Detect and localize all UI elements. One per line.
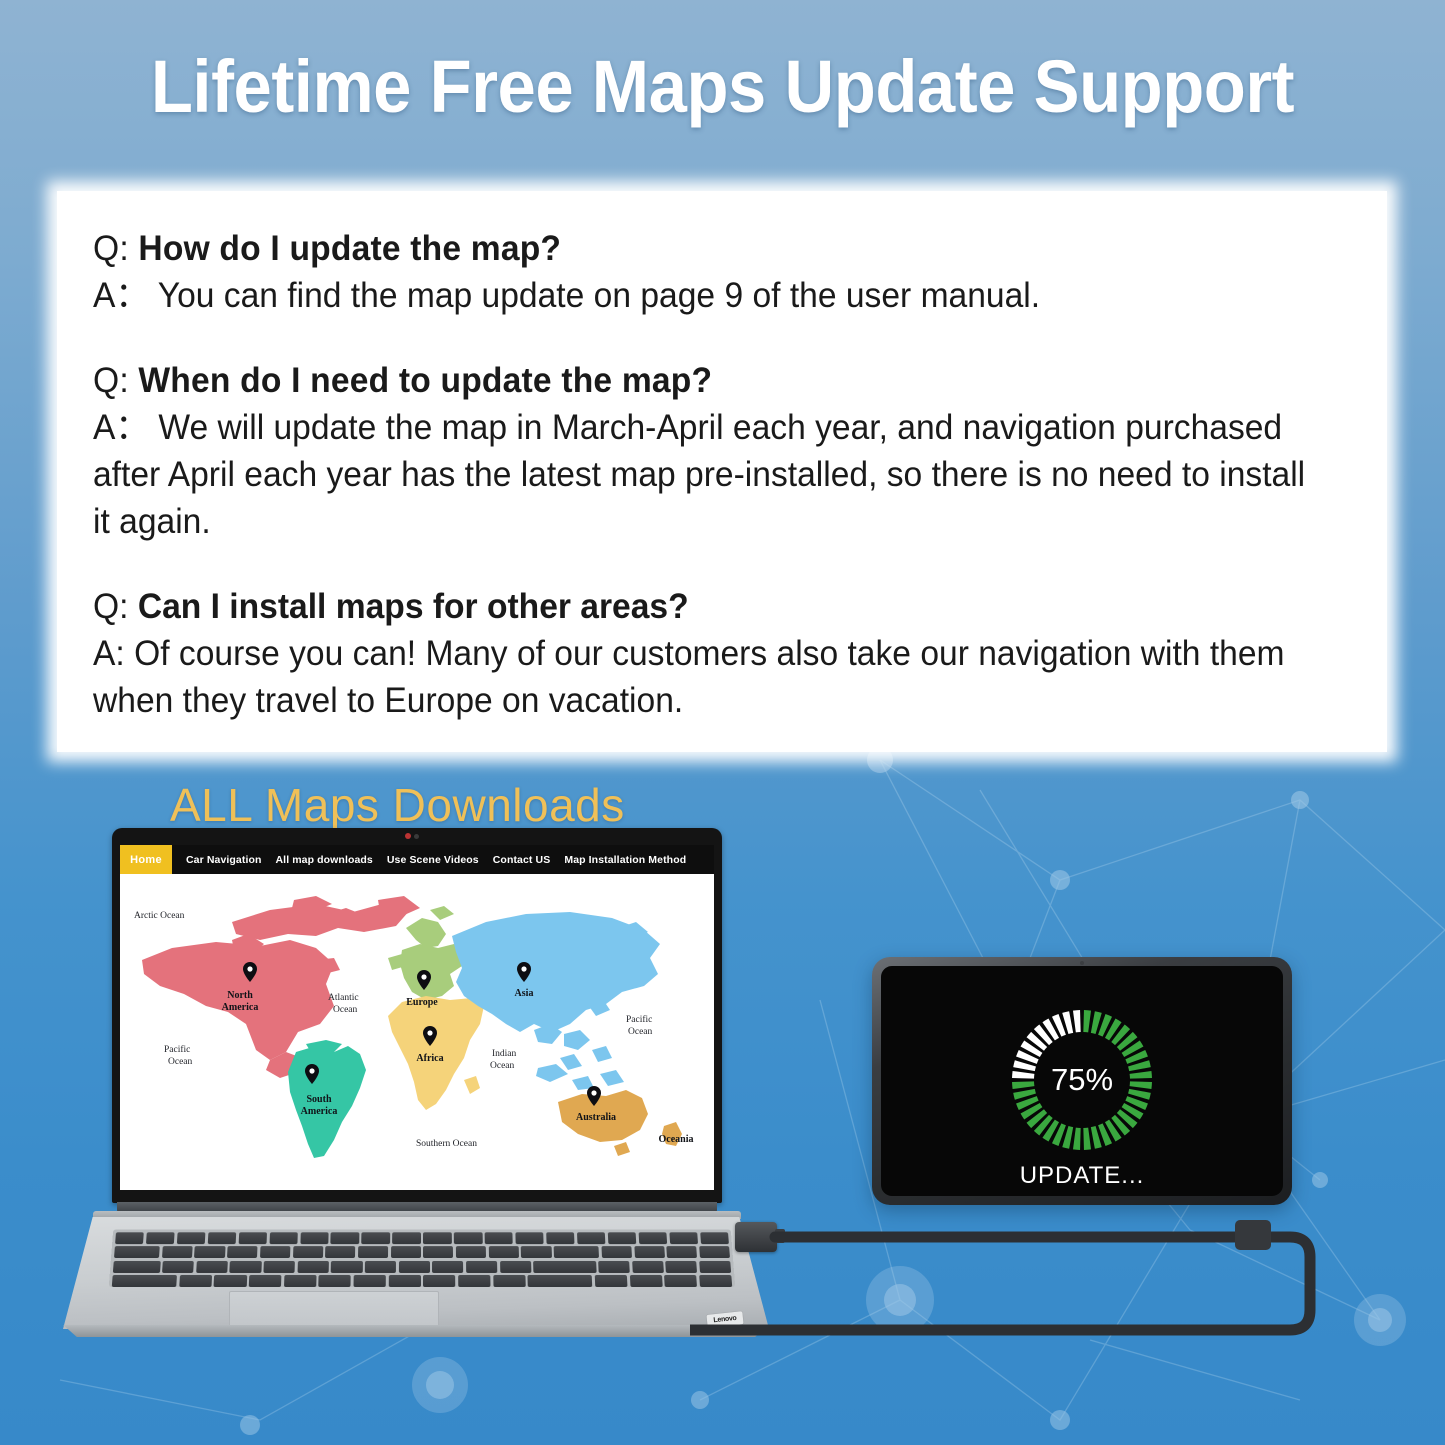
faq-answer-line: A： We will update the map in March-April… — [93, 404, 1306, 545]
keyboard-row — [111, 1246, 733, 1258]
usb-connector-icon — [735, 1222, 777, 1252]
question-text: How do I update the map? — [138, 229, 561, 268]
map-label-oceania: Oceania — [659, 1134, 694, 1145]
question-marker: Q: — [93, 587, 128, 626]
keyboard-row — [109, 1275, 736, 1287]
ocean-label-atlantic-1: Atlantic — [328, 993, 359, 1003]
ocean-label-indian-2: Ocean — [490, 1061, 515, 1071]
ocean-label-pacific-west-1: Pacific — [164, 1044, 190, 1055]
map-label-asia: Asia — [515, 988, 534, 999]
faq-question-line: Q: Can I install maps for other areas? — [93, 583, 1306, 630]
faq-item: Q: Can I install maps for other areas? A… — [93, 583, 1357, 724]
question-text: Can I install maps for other areas? — [138, 587, 689, 626]
update-status-label: UPDATE... — [1020, 1162, 1145, 1190]
map-label-north-america-1: North — [227, 990, 253, 1001]
question-marker: Q: — [93, 229, 129, 268]
map-label-africa: Africa — [416, 1053, 443, 1064]
nav-links: Car Navigation All map downloads Use Sce… — [172, 845, 686, 874]
faq-answer-line: A： You can find the map update on page 9… — [93, 272, 1306, 319]
faq-question-line: Q: When do I need to update the map? — [93, 357, 1306, 404]
map-label-europe: Europe — [406, 997, 438, 1008]
progress-ring: 75% — [1006, 1004, 1158, 1156]
faq-item: Q: When do I need to update the map? A： … — [93, 357, 1357, 545]
website-navbar: Home Car Navigation All map downloads Us… — [120, 845, 714, 874]
map-label-north-america-2: America — [222, 1002, 259, 1013]
faq-question-line: Q: How do I update the map? — [93, 225, 1306, 272]
camera-indicator-icon — [405, 833, 411, 839]
tablet-device: 75% UPDATE... — [872, 957, 1292, 1205]
poster-root: Lifetime Free Maps Update Support Q: How… — [0, 0, 1445, 1445]
answer-marker: A： — [93, 408, 149, 447]
ocean-label-southern: Southern Ocean — [416, 1139, 477, 1149]
map-label-south-america-1: South — [306, 1094, 331, 1105]
question-text: When do I need to update the map? — [138, 361, 712, 400]
laptop-base-body: Lenovo — [63, 1217, 769, 1329]
map-label-south-america-2: America — [301, 1106, 338, 1117]
answer-marker: A： — [93, 276, 149, 315]
ocean-label-indian-1: Indian — [492, 1049, 517, 1059]
answer-marker: A: — [93, 634, 125, 673]
ocean-label-pacific-east-1: Pacific — [626, 1014, 652, 1025]
nav-link-contact-us[interactable]: Contact US — [493, 854, 551, 866]
tablet-screen[interactable]: 75% UPDATE... — [881, 966, 1283, 1196]
laptop-keyboard[interactable] — [109, 1229, 736, 1287]
faq-answer-line: A: Of course you can! Many of our custom… — [93, 630, 1306, 724]
laptop-device: Home Car Navigation All map downloads Us… — [55, 828, 775, 1348]
keyboard-row — [110, 1260, 734, 1272]
faq-item: Q: How do I update the map? A： You can f… — [93, 225, 1357, 319]
world-map-svg: Arctic Ocean Atlantic Ocean Pacific Ocea… — [120, 874, 714, 1190]
nav-tab-home[interactable]: Home — [120, 845, 172, 874]
nav-link-map-installation-method[interactable]: Map Installation Method — [564, 854, 686, 866]
tablet-camera-icon — [1080, 961, 1084, 965]
world-map[interactable]: Arctic Ocean Atlantic Ocean Pacific Ocea… — [120, 874, 714, 1190]
page-title: Lifetime Free Maps Update Support — [51, 42, 1395, 132]
ocean-label-arctic: Arctic Ocean — [134, 911, 185, 921]
update-progress-block: 75% UPDATE... — [881, 1004, 1283, 1190]
answer-text: You can find the map update on page 9 of… — [158, 276, 1040, 315]
ocean-label-pacific-east-2: Ocean — [628, 1027, 653, 1037]
laptop-screen: Home Car Navigation All map downloads Us… — [120, 845, 714, 1190]
all-maps-downloads-heading: ALL Maps Downloads — [170, 778, 625, 832]
laptop-lid: Home Car Navigation All map downloads Us… — [112, 828, 722, 1203]
nav-link-car-navigation[interactable]: Car Navigation — [186, 854, 262, 866]
ocean-label-atlantic-2: Ocean — [333, 1005, 358, 1015]
map-label-australia: Australia — [576, 1112, 616, 1123]
question-marker: Q: — [93, 361, 129, 400]
faq-card: Q: How do I update the map? A： You can f… — [57, 191, 1387, 752]
progress-percent-label: 75% — [1006, 1004, 1158, 1156]
answer-text: Of course you can! Many of our customers… — [93, 634, 1285, 720]
answer-text: We will update the map in March-April ea… — [93, 408, 1305, 541]
laptop-front-lip — [59, 1325, 773, 1337]
nav-link-all-map-downloads[interactable]: All map downloads — [276, 854, 373, 866]
laptop-base: Lenovo — [55, 1211, 775, 1347]
ocean-label-pacific-west-2: Ocean — [168, 1057, 193, 1067]
keyboard-row — [112, 1232, 732, 1244]
nav-link-use-scene-videos[interactable]: Use Scene Videos — [387, 854, 479, 866]
